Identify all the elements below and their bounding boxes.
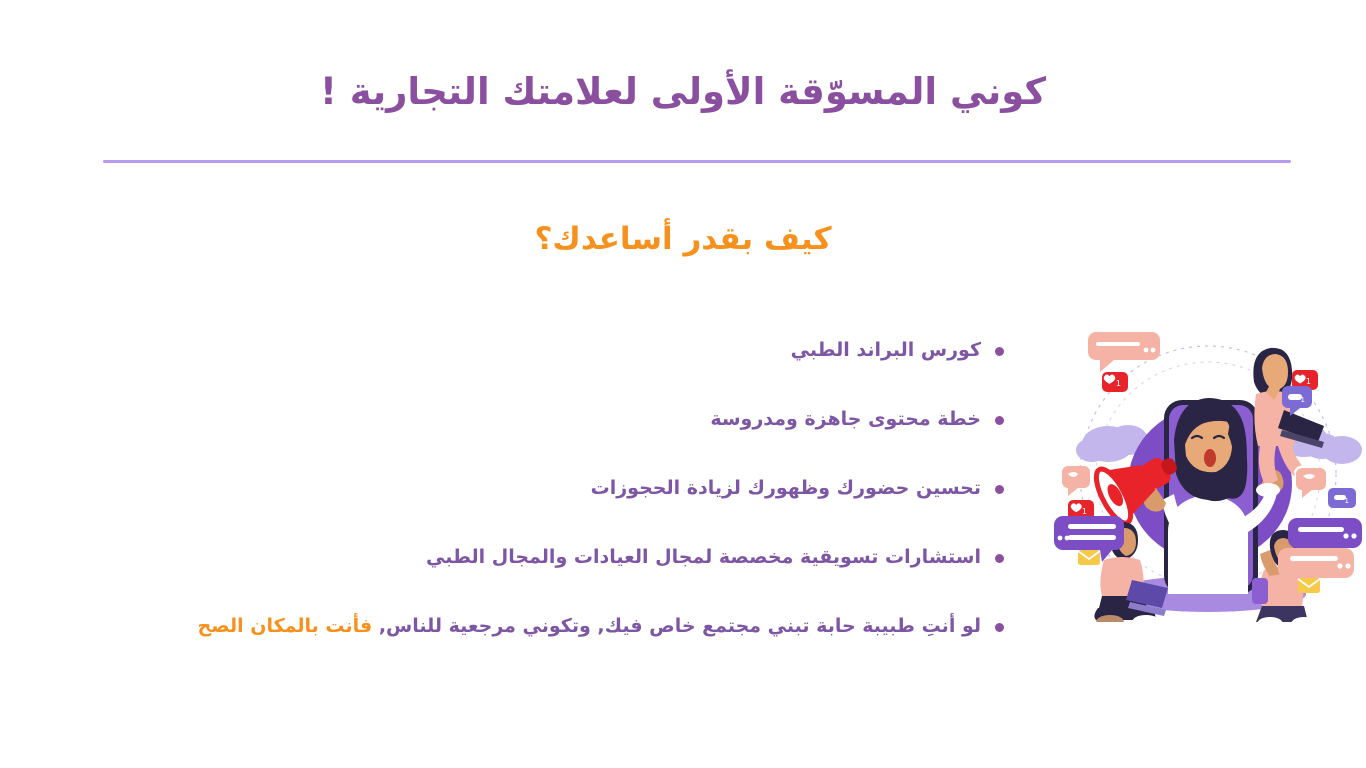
bullet-dot-icon <box>995 347 1004 356</box>
list-item: خطة محتوى جاهزة ومدروسة <box>0 405 1004 474</box>
list-item: تحسين حضورك وظهورك لزيادة الحجوزات <box>0 474 1004 543</box>
bullet-dot-icon <box>995 554 1004 563</box>
list-item-label: كورس البراند الطبي <box>791 336 981 365</box>
list-item-highlighted: لو أنتِ طبيبة حابة تبني مجتمع خاص فيك, و… <box>0 612 1004 681</box>
bullet-dot-icon <box>995 485 1004 494</box>
section-subtitle: كيف بقدر أساعدك؟ <box>0 221 1366 257</box>
svg-text:1: 1 <box>1301 396 1305 404</box>
title-divider <box>103 160 1291 163</box>
page-title: كوني المسوّقة الأولى لعلامتك التجارية ! <box>0 68 1366 116</box>
list-item-label: تحسين حضورك وظهورك لزيادة الحجوزات <box>591 474 981 503</box>
svg-text:1: 1 <box>1306 377 1311 386</box>
slide-canvas: كوني المسوّقة الأولى لعلامتك التجارية ! … <box>0 0 1366 768</box>
list-item-label: استشارات تسويقية مخصصة لمجال العيادات وا… <box>426 543 981 572</box>
list-item-label: لو أنتِ طبيبة حابة تبني مجتمع خاص فيك, و… <box>198 612 981 641</box>
list-item: استشارات تسويقية مخصصة لمجال العيادات وا… <box>0 543 1004 612</box>
svg-text:1: 1 <box>1116 379 1121 388</box>
list-item-label: خطة محتوى جاهزة ومدروسة <box>710 405 981 434</box>
bullet-dot-icon <box>995 416 1004 425</box>
svg-text:1: 1 <box>1082 507 1087 516</box>
benefits-list: كورس البراند الطبي خطة محتوى جاهزة ومدرو… <box>0 336 1004 681</box>
list-item: كورس البراند الطبي <box>0 336 1004 405</box>
bullet-dot-icon <box>995 623 1004 632</box>
svg-text:1: 1 <box>1345 497 1349 505</box>
social-media-marketing-illustration: 1 1 1 1 <box>1050 322 1366 622</box>
highlight-text: فأنت بالمكان الصح <box>198 615 373 637</box>
